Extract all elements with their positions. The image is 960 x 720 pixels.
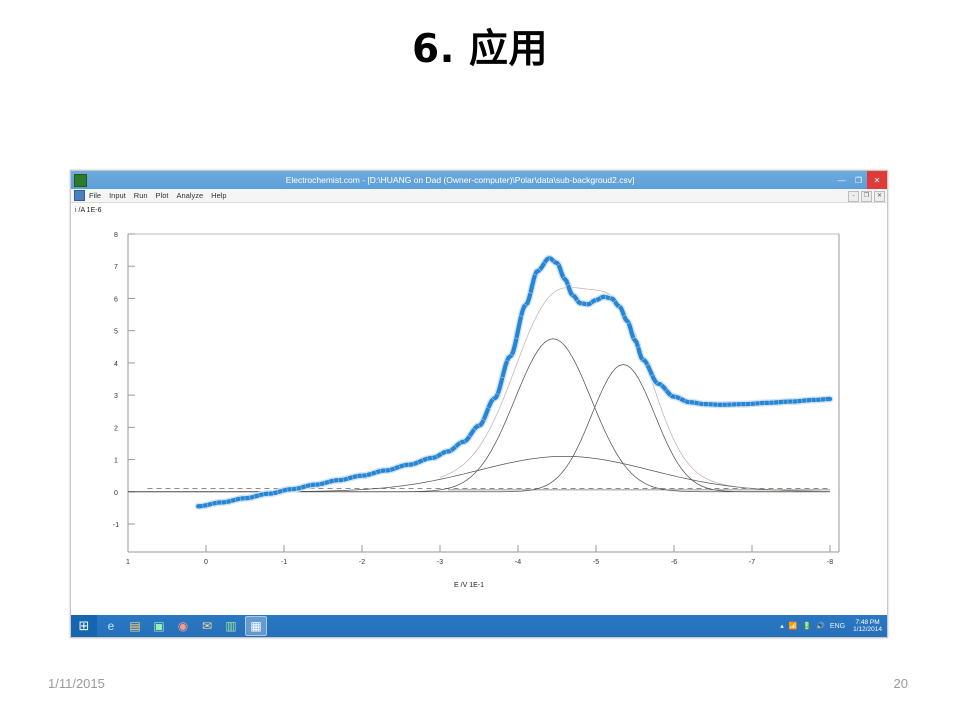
windows-taskbar: ⊞ e ▤ ▣ ◉ ✉ ▥ ▦ ▴ 📶 🔋 🔊 ENG 7:48 PM 1/12… xyxy=(71,615,887,637)
svg-text:-6: -6 xyxy=(671,559,677,566)
svg-text:-5: -5 xyxy=(593,559,599,566)
svg-text:-7: -7 xyxy=(749,559,755,566)
svg-text:0: 0 xyxy=(114,490,118,497)
menu-item-help[interactable]: Help xyxy=(211,191,226,200)
document-system-icon[interactable] xyxy=(74,190,85,201)
file-explorer-icon[interactable]: ▤ xyxy=(125,617,145,635)
mdi-minimize-button[interactable]: - xyxy=(848,191,859,202)
mdi-window-controls: - ❐ ✕ xyxy=(848,191,885,202)
svg-text:-2: -2 xyxy=(359,559,365,566)
mdi-close-button[interactable]: ✕ xyxy=(874,191,885,202)
menu-bar: File Input Run Plot Analyze Help - ❐ ✕ xyxy=(71,189,887,203)
internet-explorer-icon[interactable]: e xyxy=(101,617,121,635)
svg-text:1: 1 xyxy=(126,559,130,566)
clock-time: 7:48 PM xyxy=(855,619,879,626)
slide-footer-date: 1/11/2015 xyxy=(48,676,105,691)
battery-icon[interactable]: 🔋 xyxy=(802,622,811,630)
start-button[interactable]: ⊞ xyxy=(71,615,97,637)
svg-text:-4: -4 xyxy=(515,559,521,566)
clock-date: 1/12/2014 xyxy=(853,626,882,633)
clock[interactable]: 7:48 PM 1/12/2014 xyxy=(850,619,882,634)
svg-text:-1: -1 xyxy=(281,559,287,566)
mdi-restore-button[interactable]: ❐ xyxy=(861,191,872,202)
show-hidden-icons-icon[interactable]: ▴ xyxy=(780,622,784,630)
svg-text:-8: -8 xyxy=(827,559,833,566)
voltammogram-chart[interactable]: -101234567810-1-2-3-4-5-6-7-8E /V 1E-1 xyxy=(71,204,887,617)
menu-item-file[interactable]: File xyxy=(89,191,101,200)
page-title: 6. 应用 xyxy=(0,18,960,74)
svg-text:-3: -3 xyxy=(437,559,443,566)
presentation-slide: 6. 应用 Electrochemist.com - [D:\HUANG on … xyxy=(0,0,960,720)
window-title: Electrochemist.com - [D:\HUANG on Dad (O… xyxy=(87,175,887,185)
svg-text:4: 4 xyxy=(114,361,118,368)
svg-text:5: 5 xyxy=(114,329,118,336)
volume-icon[interactable]: 🔊 xyxy=(816,622,825,630)
network-icon[interactable]: 📶 xyxy=(789,622,798,630)
app-icon xyxy=(74,174,87,187)
window-controls: — ❐ ✕ xyxy=(833,171,887,189)
electrochemist-icon[interactable]: ▦ xyxy=(245,616,267,636)
minimize-button[interactable]: — xyxy=(833,171,850,189)
chrome-icon[interactable]: ◉ xyxy=(173,617,193,635)
svg-text:0: 0 xyxy=(204,559,208,566)
svg-text:3: 3 xyxy=(114,393,118,400)
svg-text:-1: -1 xyxy=(113,522,119,529)
mail-icon[interactable]: ✉ xyxy=(197,617,217,635)
language-indicator[interactable]: ENG xyxy=(830,623,845,630)
notes-icon[interactable]: ▥ xyxy=(221,617,241,635)
electrochemist-application-window: Electrochemist.com - [D:\HUANG on Dad (O… xyxy=(70,170,888,638)
plot-client-area[interactable]: i /A 1E-6 -101234567810-1-2-3-4-5-6-7-8E… xyxy=(71,203,887,617)
menu-item-analyze[interactable]: Analyze xyxy=(176,191,203,200)
store-icon[interactable]: ▣ xyxy=(149,617,169,635)
menu-item-input[interactable]: Input xyxy=(109,191,126,200)
window-titlebar: Electrochemist.com - [D:\HUANG on Dad (O… xyxy=(71,171,887,189)
close-button[interactable]: ✕ xyxy=(867,171,887,189)
menu-item-run[interactable]: Run xyxy=(134,191,148,200)
menu-item-plot[interactable]: Plot xyxy=(156,191,169,200)
svg-text:E /V 1E-1: E /V 1E-1 xyxy=(454,582,484,589)
svg-text:8: 8 xyxy=(114,232,118,239)
maximize-button[interactable]: ❐ xyxy=(850,171,867,189)
svg-text:1: 1 xyxy=(114,458,118,465)
svg-text:6: 6 xyxy=(114,296,118,303)
svg-text:7: 7 xyxy=(114,264,118,271)
system-tray: ▴ 📶 🔋 🔊 ENG 7:48 PM 1/12/2014 xyxy=(780,619,887,634)
slide-page-number: 20 xyxy=(894,676,908,691)
svg-text:2: 2 xyxy=(114,425,118,432)
